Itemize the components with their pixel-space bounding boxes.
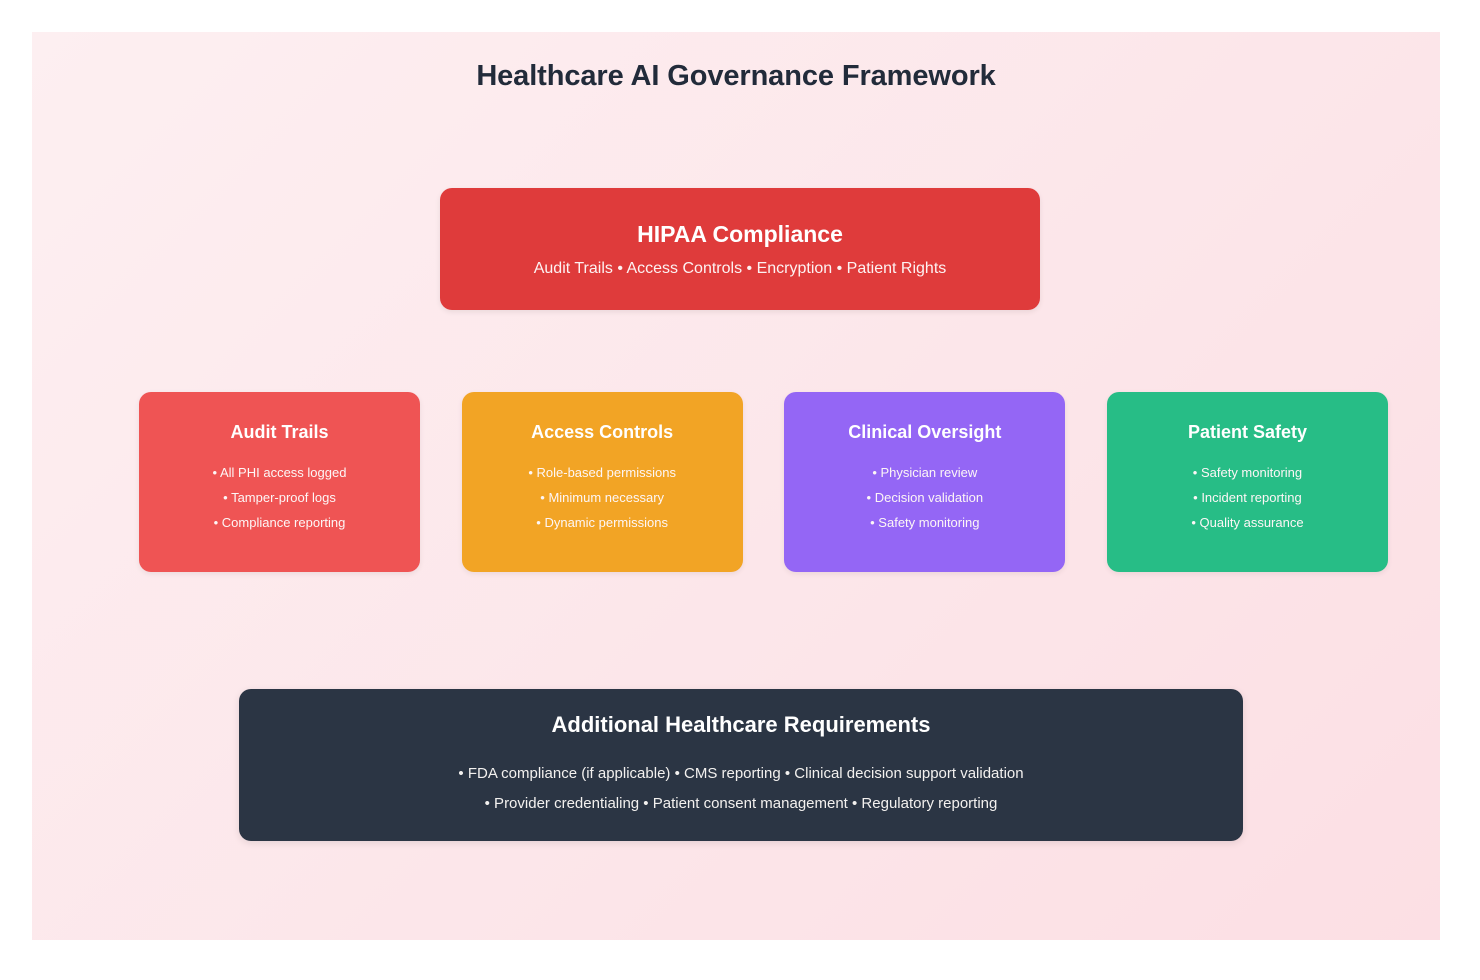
- pillar-title: Audit Trails: [230, 422, 328, 443]
- footer-box-additional-requirements[interactable]: Additional Healthcare Requirements • FDA…: [239, 689, 1243, 841]
- pillar-item: • Incident reporting: [1193, 485, 1302, 510]
- pillar-item: • Physician review: [872, 460, 977, 485]
- page-title: Healthcare AI Governance Framework: [32, 60, 1440, 93]
- pillar-item: • Decision validation: [867, 485, 984, 510]
- primary-box-hipaa-compliance[interactable]: HIPAA Compliance Audit Trails • Access C…: [440, 188, 1040, 310]
- pillar-item: • Minimum necessary: [540, 485, 664, 510]
- diagram-panel: Healthcare AI Governance Framework HIPAA…: [32, 32, 1440, 940]
- footer-box-line: • Provider credentialing • Patient conse…: [485, 789, 998, 819]
- pillar-title: Patient Safety: [1188, 422, 1307, 443]
- pillar-card-access-controls[interactable]: Access Controls • Role-based permissions…: [462, 392, 743, 572]
- primary-box-title: HIPAA Compliance: [637, 221, 843, 248]
- pillar-item: • Dynamic permissions: [536, 510, 668, 535]
- pillar-item: • Quality assurance: [1191, 510, 1303, 535]
- pillar-card-row: Audit Trails • All PHI access logged • T…: [139, 392, 1388, 572]
- pillar-item: • All PHI access logged: [213, 460, 347, 485]
- pillar-title: Clinical Oversight: [848, 422, 1001, 443]
- footer-box-title: Additional Healthcare Requirements: [552, 712, 931, 738]
- pillar-card-patient-safety[interactable]: Patient Safety • Safety monitoring • Inc…: [1107, 392, 1388, 572]
- pillar-card-clinical-oversight[interactable]: Clinical Oversight • Physician review • …: [784, 392, 1065, 572]
- primary-box-subtitle: Audit Trails • Access Controls • Encrypt…: [534, 260, 947, 278]
- pillar-item: • Role-based permissions: [528, 460, 676, 485]
- pillar-card-audit-trails[interactable]: Audit Trails • All PHI access logged • T…: [139, 392, 420, 572]
- footer-box-line: • FDA compliance (if applicable) • CMS r…: [458, 759, 1023, 789]
- pillar-item: • Tamper-proof logs: [223, 485, 336, 510]
- pillar-item: • Compliance reporting: [214, 510, 346, 535]
- diagram-canvas: Healthcare AI Governance Framework HIPAA…: [0, 0, 1480, 980]
- pillar-item: • Safety monitoring: [870, 510, 979, 535]
- pillar-item: • Safety monitoring: [1193, 460, 1302, 485]
- pillar-title: Access Controls: [531, 422, 673, 443]
